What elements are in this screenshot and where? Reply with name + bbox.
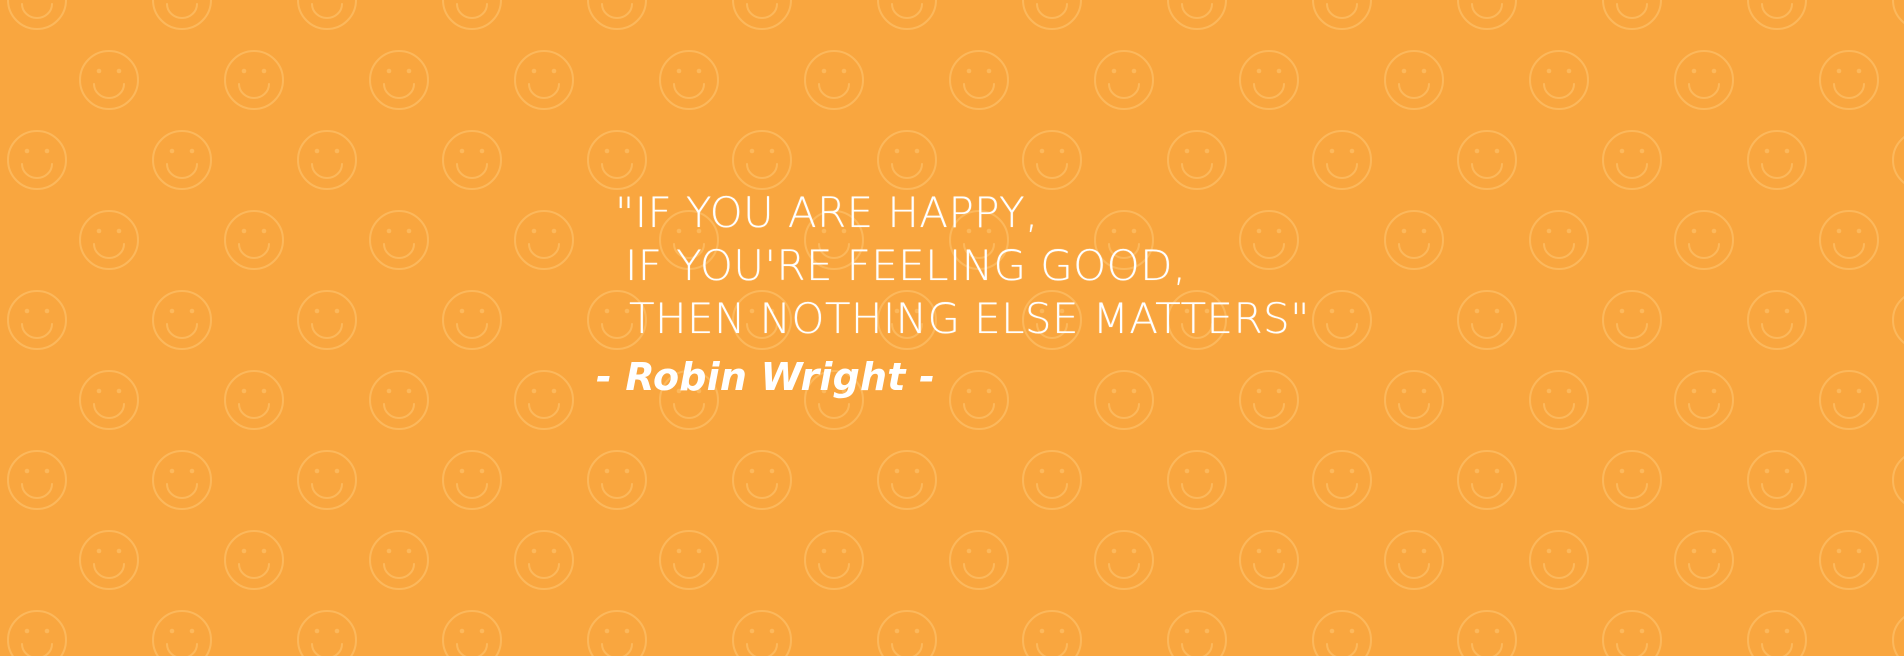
quote-attribution: - Robin Wright - bbox=[596, 354, 1310, 400]
quote-line-1: "IF YOU ARE HAPPY, bbox=[596, 186, 1310, 239]
quote-line-2: IF YOU'RE FEELING GOOD, bbox=[596, 239, 1310, 292]
quote-banner: "IF YOU ARE HAPPY, IF YOU'RE FEELING GOO… bbox=[0, 0, 1904, 656]
quote-text-block: "IF YOU ARE HAPPY, IF YOU'RE FEELING GOO… bbox=[596, 186, 1310, 400]
quote-line-3: THEN NOTHING ELSE MATTERS" bbox=[596, 292, 1310, 345]
